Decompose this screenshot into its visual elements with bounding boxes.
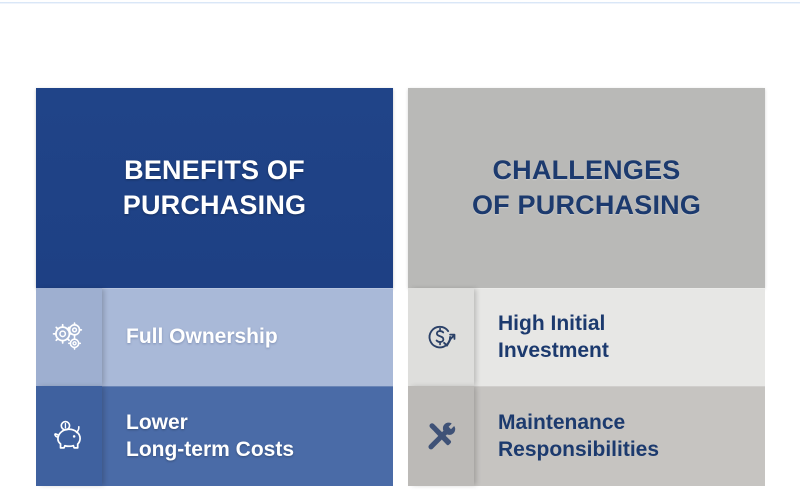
benefit-row-lower-long-term-costs[interactable]: Lower Long-term Costs bbox=[36, 386, 393, 486]
benefit-label-cell-1: Full Ownership bbox=[102, 288, 393, 386]
infographic-canvas: BENEFITS OF PURCHASING bbox=[0, 0, 800, 500]
gears-icon-cell bbox=[36, 288, 102, 386]
benefits-header-panel: BENEFITS OF PURCHASING bbox=[36, 88, 393, 288]
challenge-row-high-initial-investment[interactable]: High Initial Investment bbox=[408, 288, 765, 386]
benefit-label-cell-2: Lower Long-term Costs bbox=[102, 386, 393, 486]
dollar-circle-trend-icon bbox=[422, 318, 460, 356]
benefit-row-full-ownership[interactable]: Full Ownership bbox=[36, 288, 393, 386]
piggy-bank-icon bbox=[50, 417, 88, 455]
challenges-header-title: CHALLENGES OF PURCHASING bbox=[472, 153, 701, 222]
gears-icon bbox=[50, 318, 88, 356]
challenge-row-maintenance-responsibilities[interactable]: Maintenance Responsibilities bbox=[408, 386, 765, 486]
challenges-column: CHALLENGES OF PURCHASING High Initial In… bbox=[408, 88, 765, 486]
wrench-screwdriver-icon-cell bbox=[408, 386, 474, 486]
challenge-label-high-initial-investment: High Initial Investment bbox=[498, 310, 609, 365]
challenges-header-panel: CHALLENGES OF PURCHASING bbox=[408, 88, 765, 288]
piggy-bank-icon-cell bbox=[36, 386, 102, 486]
benefit-label-full-ownership: Full Ownership bbox=[126, 323, 278, 350]
benefits-header-title: BENEFITS OF PURCHASING bbox=[123, 153, 307, 222]
dollar-circle-trend-icon-cell bbox=[408, 288, 474, 386]
benefits-column: BENEFITS OF PURCHASING bbox=[36, 88, 393, 486]
challenge-label-cell-1: High Initial Investment bbox=[474, 288, 765, 386]
challenge-label-cell-2: Maintenance Responsibilities bbox=[474, 386, 765, 486]
benefit-label-lower-long-term-costs: Lower Long-term Costs bbox=[126, 409, 294, 464]
wrench-screwdriver-icon bbox=[422, 417, 460, 455]
challenge-label-maintenance-responsibilities: Maintenance Responsibilities bbox=[498, 409, 659, 464]
top-rule-divider bbox=[0, 2, 800, 4]
